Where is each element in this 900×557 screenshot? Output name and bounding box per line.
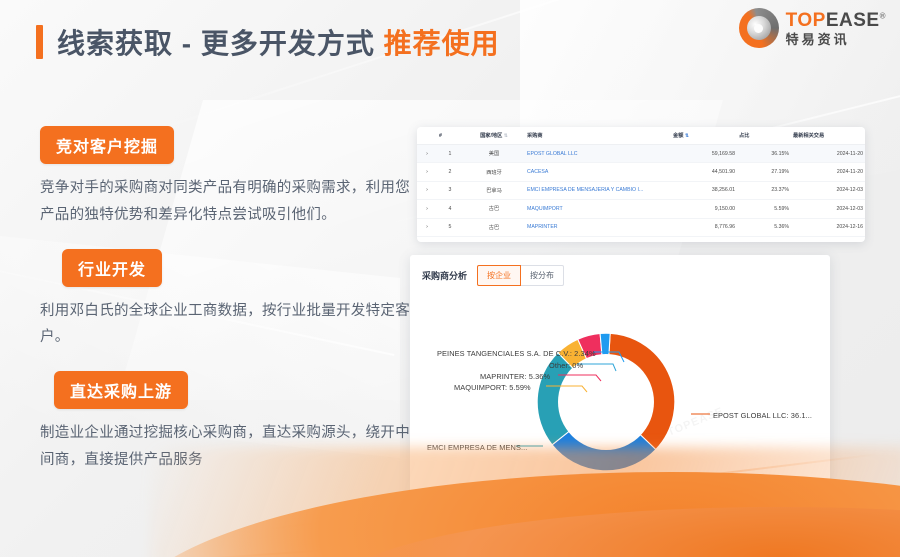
cell-buyer[interactable]: MAQUIMPORT <box>525 200 671 218</box>
feature-badge-industry: 行业开发 <box>62 249 162 287</box>
title-highlight: 推荐使用 <box>384 28 500 59</box>
row-expand-icon[interactable]: › <box>417 236 437 242</box>
table-row[interactable]: › 5 古巴 MAPRINTER 8,776.96 5.36% 2024-12-… <box>417 218 865 236</box>
cell-buyer[interactable]: EMCI EMPRESA DE MENSAJERIA Y CAMBIO I... <box>525 181 671 199</box>
cell-country: 巴拿马 <box>463 181 525 199</box>
cell-date: 2024-12-16 <box>791 218 865 236</box>
cell-country: 西班牙 <box>463 163 525 181</box>
cell-amount: 9,150.00 <box>671 200 737 218</box>
chart-title: 采购商分析 <box>422 269 467 282</box>
cell-date: 2024-12-03 <box>791 181 865 199</box>
cell-percent: 36.15% <box>737 145 791 163</box>
cell-buyer[interactable]: CACESA <box>525 163 671 181</box>
cell-amount: 59,169.58 <box>671 145 737 163</box>
row-expand-icon[interactable]: › <box>417 163 437 181</box>
cell-country: 古巴 <box>463 218 525 236</box>
cell-date: 2022-02-24 <box>791 236 865 242</box>
col-country[interactable]: 国家/地区 ⇅ <box>463 127 525 145</box>
col-amount[interactable]: 金额 ⇅ <box>671 127 737 145</box>
buyer-table: # 国家/地区 ⇅ 采购商 金额 ⇅ 占比 最新相关交易 › 1 美国 EPOS… <box>417 127 865 242</box>
logo-name-en: TOPEASE® <box>786 11 886 30</box>
chart-label-maprinter: MAPRINTER: 5.36% <box>480 372 550 381</box>
logo-name-cn: 特易资讯 <box>786 33 886 46</box>
col-latest-deal: 最新相关交易 <box>791 127 865 145</box>
table-header: # 国家/地区 ⇅ 采购商 金额 ⇅ 占比 最新相关交易 <box>417 127 865 145</box>
cell-percent: 5.59% <box>737 200 791 218</box>
table-row[interactable]: › 4 古巴 MAQUIMPORT 9,150.00 5.59% 2024-12… <box>417 200 865 218</box>
cell-index: 6 <box>437 236 463 242</box>
cell-percent: 27.19% <box>737 163 791 181</box>
col-percent: 占比 <box>737 127 791 145</box>
col-expand <box>417 127 437 145</box>
chart-label-other: Other: 0% <box>549 361 583 370</box>
cell-buyer[interactable]: MAPRINTER <box>525 218 671 236</box>
slide-canvas: 线索获取 - 更多开发方式 推荐使用 TOPEASE® 特易资讯 竞对客户挖掘 … <box>0 0 900 557</box>
table-row[interactable]: › 3 巴拿马 EMCI EMPRESA DE MENSAJERIA Y CAM… <box>417 181 865 199</box>
cell-country: 美国 <box>463 145 525 163</box>
table-row[interactable]: › 2 西班牙 CACESA 44,501.90 27.19% 2024-11-… <box>417 163 865 181</box>
table-row[interactable]: › 6 墨西哥 PEINES TANGENCIALES S.A. DE C.V.… <box>417 236 865 242</box>
logo-circle-icon <box>739 8 779 48</box>
feature-badge-upstream: 直达采购上游 <box>54 371 188 409</box>
feature-badge-competitor: 竞对客户挖掘 <box>40 126 174 164</box>
buyer-table-card: # 国家/地区 ⇅ 采购商 金额 ⇅ 占比 最新相关交易 › 1 美国 EPOS… <box>417 127 865 242</box>
row-expand-icon[interactable]: › <box>417 181 437 199</box>
logo-name-top: TOP <box>786 10 826 31</box>
cell-amount: 44,501.90 <box>671 163 737 181</box>
logo-name-ease: EASE <box>826 10 880 31</box>
cell-percent: 5.36% <box>737 218 791 236</box>
tab-by-distribution[interactable]: 按分布 <box>521 265 564 286</box>
feature-item-industry: 行业开发 利用邓白氏的全球企业工商数据，按行业批量开发特定客户。 <box>40 249 420 352</box>
cell-index: 4 <box>437 200 463 218</box>
cell-amount: 38,256.01 <box>671 181 737 199</box>
table-row[interactable]: › 1 美国 EPOST GLOBAL LLC 59,169.58 36.15%… <box>417 145 865 163</box>
title-text: 线索获取 - 更多开发方式 推荐使用 <box>57 22 500 62</box>
cell-index: 3 <box>437 181 463 199</box>
feature-desc-competitor: 竞争对手的采购商对同类产品有明确的采购需求，利用您产品的独特优势和差异化特点尝试… <box>40 175 420 229</box>
cell-buyer[interactable]: PEINES TANGENCIALES S.A. DE C.V. <box>525 236 671 242</box>
cell-date: 2024-12-03 <box>791 200 865 218</box>
cell-index: 5 <box>437 218 463 236</box>
logo-inner-ring <box>747 16 771 40</box>
title-accent-bar <box>36 25 43 59</box>
cell-amount: 8,776.96 <box>671 218 737 236</box>
chart-header: 采购商分析 按企业 按分布 <box>410 255 830 286</box>
cell-index: 1 <box>437 145 463 163</box>
logo-wordmark: TOPEASE® 特易资讯 <box>786 11 886 46</box>
cell-amount: 3,833.87 <box>671 236 737 242</box>
table-body: › 1 美国 EPOST GLOBAL LLC 59,169.58 36.15%… <box>417 145 865 243</box>
cell-date: 2024-11-20 <box>791 163 865 181</box>
cell-index: 2 <box>437 163 463 181</box>
chart-view-tabs: 按企业 按分布 <box>477 265 564 286</box>
brand-logo: TOPEASE® 特易资讯 <box>739 8 886 48</box>
table-header-row: # 国家/地区 ⇅ 采购商 金额 ⇅ 占比 最新相关交易 <box>417 127 865 145</box>
page-title: 线索获取 - 更多开发方式 推荐使用 <box>36 22 500 62</box>
cell-percent: 23.37% <box>737 181 791 199</box>
logo-core-dot <box>754 24 763 33</box>
row-expand-icon[interactable]: › <box>417 218 437 236</box>
col-index: # <box>437 127 463 145</box>
logo-registered-mark: ® <box>880 11 886 20</box>
chart-label-peines: PEINES TANGENCIALES S.A. DE C.V.: 2.34% <box>437 349 596 358</box>
sort-icon-country[interactable]: ⇅ <box>504 133 508 139</box>
feature-desc-industry: 利用邓白氏的全球企业工商数据，按行业批量开发特定客户。 <box>40 298 420 352</box>
bottom-decoration <box>0 417 900 557</box>
cell-buyer[interactable]: EPOST GLOBAL LLC <box>525 145 671 163</box>
feature-item-competitor: 竞对客户挖掘 竞争对手的采购商对同类产品有明确的采购需求，利用您产品的独特优势和… <box>40 126 420 229</box>
cell-percent: 2.34% <box>737 236 791 242</box>
row-expand-icon[interactable]: › <box>417 145 437 163</box>
cell-country: 古巴 <box>463 200 525 218</box>
sort-icon-amount[interactable]: ⇅ <box>685 133 689 139</box>
cell-country: 墨西哥 <box>463 236 525 242</box>
row-expand-icon[interactable]: › <box>417 200 437 218</box>
tab-by-company[interactable]: 按企业 <box>477 265 521 286</box>
cell-date: 2024-11-20 <box>791 145 865 163</box>
chart-label-maquimport: MAQUIMPORT: 5.59% <box>454 383 531 392</box>
title-main: 线索获取 - 更多开发方式 <box>57 28 375 59</box>
col-buyer: 采购商 <box>525 127 671 145</box>
